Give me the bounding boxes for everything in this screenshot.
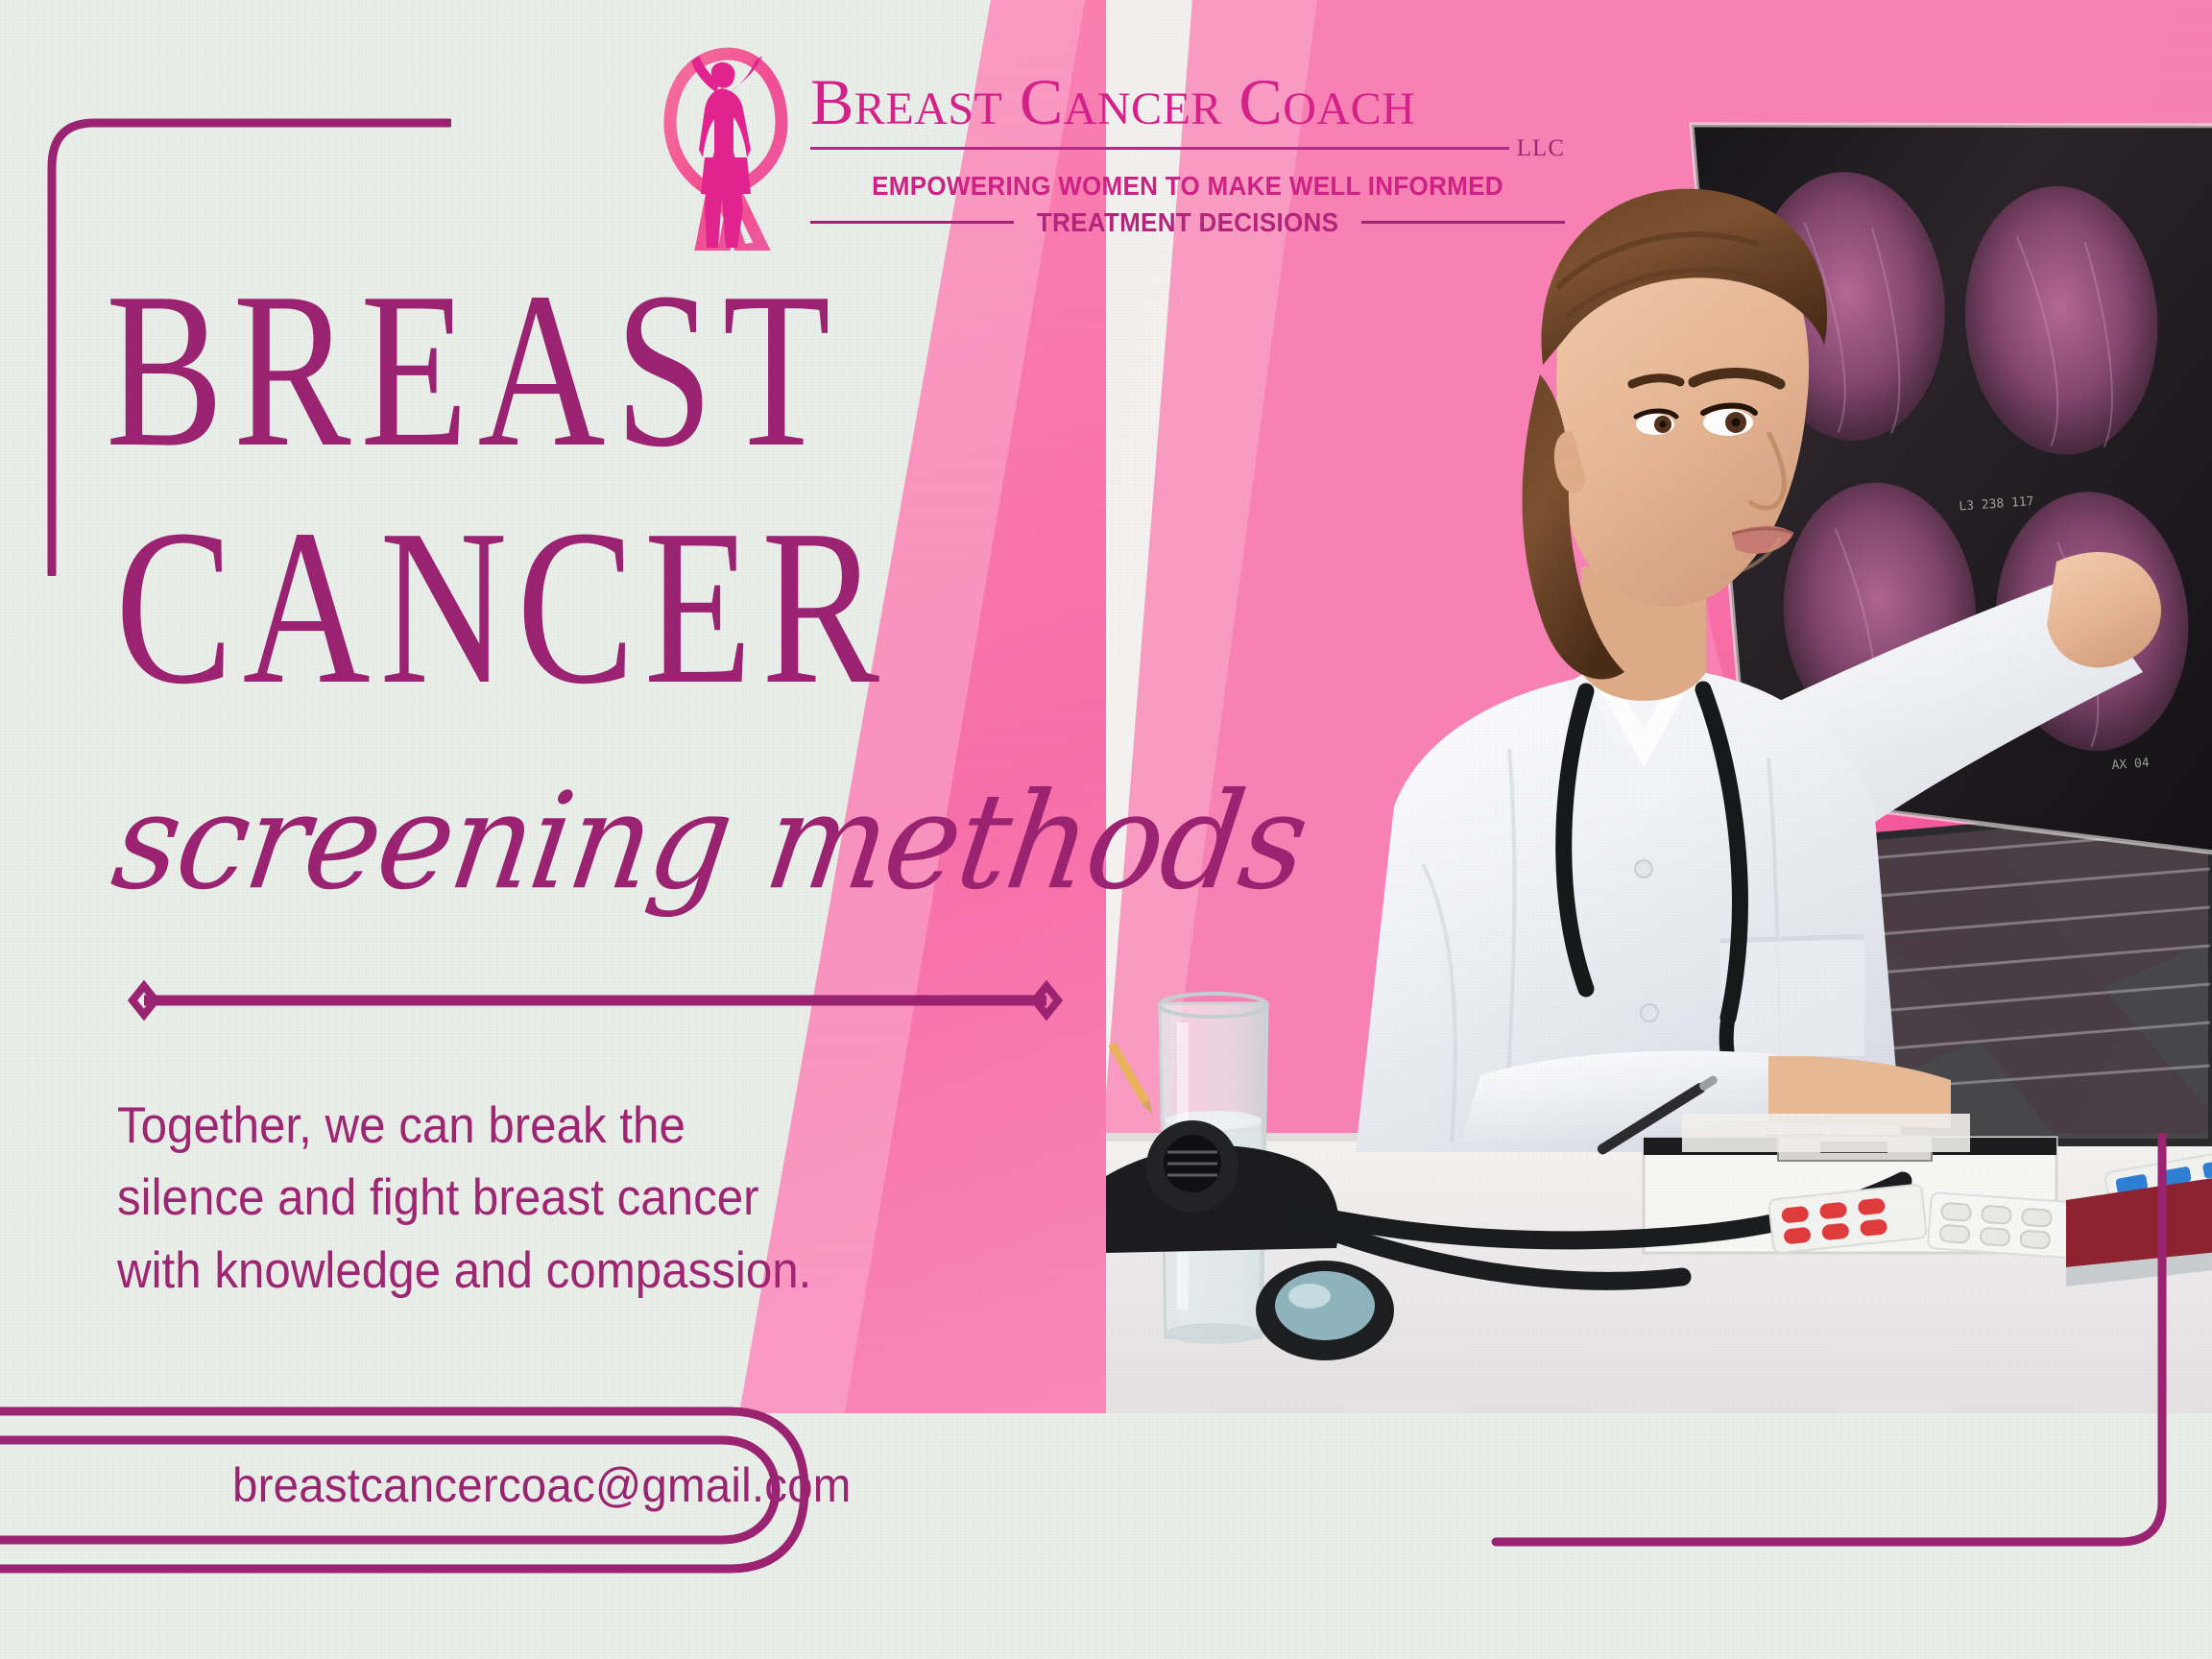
logo-rule <box>810 147 1509 150</box>
body-paragraph: Together, we can break the silence and f… <box>117 1090 939 1307</box>
logo-tagline-rule-left <box>810 221 1014 224</box>
brand-logo: Breast Cancer Coach LLC EMPOWERING WOMEN… <box>662 36 1565 257</box>
corner-bracket-bottom-right <box>1479 1133 2179 1575</box>
svg-text:AX 04: AX 04 <box>2111 756 2150 773</box>
body-line-2: silence and fight breast cancer <box>117 1162 939 1234</box>
body-line-3: with knowledge and compassion. <box>117 1235 939 1307</box>
logo-tagline-line2: TREATMENT DECISIONS <box>1037 207 1338 238</box>
poster-canvas: L3 238 117 AX 04 <box>0 0 2212 1659</box>
headline-line-2: CANCER <box>115 506 1094 710</box>
logo-tagline-rule-right <box>1361 221 1565 224</box>
logo-wordmark: Breast Cancer Coach LLC EMPOWERING WOMEN… <box>797 36 1565 238</box>
headline-script-subtitle: screening methods <box>105 764 1315 920</box>
body-line-1: Together, we can break the <box>117 1090 939 1162</box>
logo-tagline-line2-row: TREATMENT DECISIONS <box>810 207 1565 238</box>
woman-silhouette-in-ribbon-circle-icon <box>662 44 797 251</box>
logo-tagline-line1: EMPOWERING WOMEN TO MAKE WELL INFORMED <box>837 171 1539 202</box>
page-title: BREAST CANCER <box>106 269 1123 674</box>
logo-llc-label: LLC <box>1517 135 1565 162</box>
headline-line-1: BREAST <box>106 269 1093 473</box>
email-address[interactable]: breastcancercoac@gmail.com <box>232 1457 852 1513</box>
logo-company-name: Breast Cancer Coach <box>810 71 1565 133</box>
logo-llc-row: LLC <box>810 135 1565 162</box>
diamond-divider <box>115 979 1075 1022</box>
